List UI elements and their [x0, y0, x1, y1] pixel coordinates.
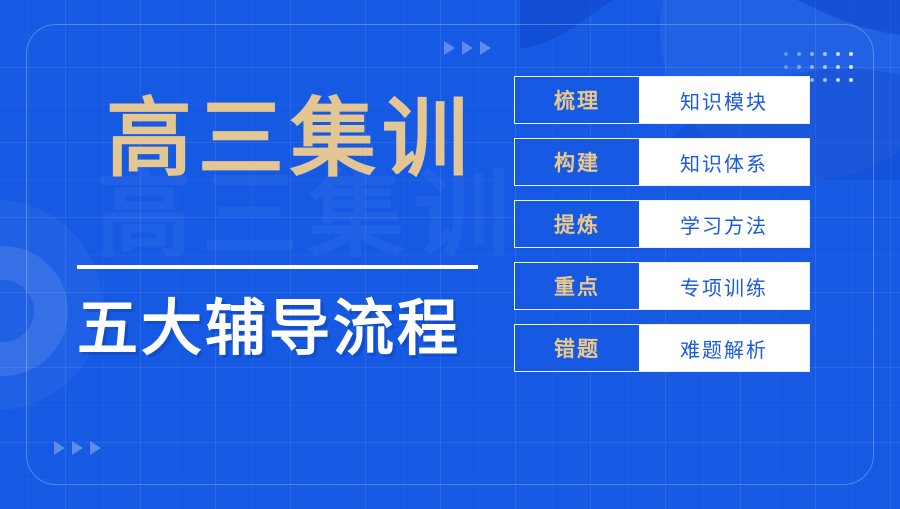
dot	[784, 52, 788, 56]
process-row[interactable]: 构建知识体系	[514, 138, 810, 186]
process-row[interactable]: 错题难题解析	[514, 324, 810, 372]
process-row-key: 构建	[515, 139, 639, 185]
dot	[836, 52, 840, 56]
process-row-key: 提炼	[515, 201, 639, 247]
dot	[823, 52, 827, 56]
process-row-value: 难题解析	[639, 325, 809, 371]
dot	[810, 65, 814, 69]
process-row-value: 知识体系	[639, 139, 809, 185]
process-row[interactable]: 梳理知识模块	[514, 76, 810, 124]
process-row-list: 梳理知识模块构建知识体系提炼学习方法重点专项训练错题难题解析	[514, 76, 810, 372]
title-divider	[77, 265, 478, 269]
dot	[836, 65, 840, 69]
process-row[interactable]: 重点专项训练	[514, 262, 810, 310]
process-row-key: 梳理	[515, 77, 639, 123]
dot	[797, 65, 801, 69]
process-row-key: 错题	[515, 325, 639, 371]
sub-title: 五大辅导流程	[77, 298, 461, 359]
dot	[823, 78, 827, 82]
dot	[836, 78, 840, 82]
process-row-value: 知识模块	[639, 77, 809, 123]
title-block: 高三集训 五大辅导流程	[0, 0, 500, 509]
dot	[810, 78, 814, 82]
dot	[849, 52, 853, 56]
dot	[849, 78, 853, 82]
dot	[784, 65, 788, 69]
dot	[797, 52, 801, 56]
process-row-key: 重点	[515, 263, 639, 309]
process-row[interactable]: 提炼学习方法	[514, 200, 810, 248]
process-row-value: 专项训练	[639, 263, 809, 309]
dot	[810, 52, 814, 56]
poster-canvas: 高三集训 高三集训 五大辅导流程 梳理知识模块构建知识体系提炼学习方法重点专项训…	[0, 0, 900, 509]
dot	[823, 65, 827, 69]
main-title: 高三集训	[106, 96, 474, 182]
process-row-value: 学习方法	[639, 201, 809, 247]
dot	[849, 65, 853, 69]
